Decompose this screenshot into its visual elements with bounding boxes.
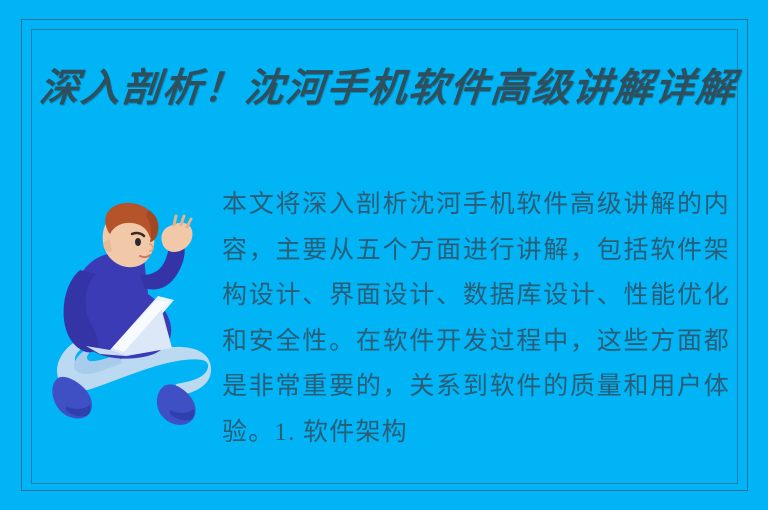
poster-canvas: 深入剖析！沈河手机软件高级讲解详解 本文将深入剖析沈河手机软件高级讲解的内容，主… xyxy=(0,0,768,510)
person-sitting-cross-legged-with-laptop-illustration xyxy=(52,196,212,434)
page-title: 深入剖析！沈河手机软件高级讲解详解 xyxy=(37,54,732,116)
body-paragraph: 本文将深入剖析沈河手机软件高级讲解的内容，主要从五个方面进行讲解，包括软件架构设… xyxy=(222,182,730,455)
